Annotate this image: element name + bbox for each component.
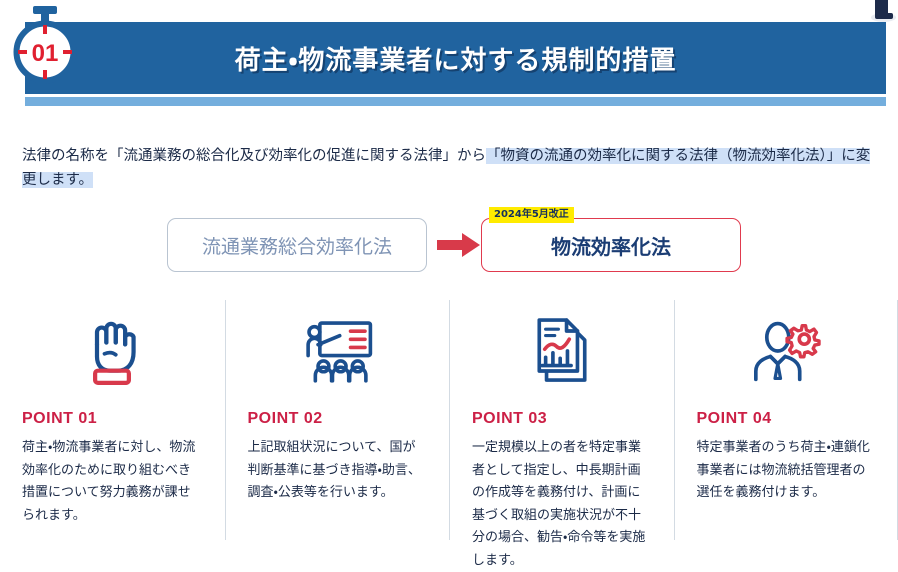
point-card-02: POINT 02 上記取組状況について、国が判断基準に基づき指導・助言、調査・公… xyxy=(225,300,450,540)
points-grid: POINT 01 荷主・物流事業者に対し、物流効率化のために取り組むべき措置につ… xyxy=(0,300,898,540)
point-body: 上記取組状況について、国が判断基準に基づき指導・助言、調査・公表等を行います。 xyxy=(248,437,428,505)
point-label: POINT 02 xyxy=(248,410,428,428)
manager-gear-icon xyxy=(697,312,876,390)
page-title: 荷主・物流事業者に対する規制的措置 xyxy=(25,40,886,77)
old-law-box: 流通業務総合効率化法 xyxy=(167,218,427,272)
stopwatch-icon: 01 xyxy=(8,4,86,88)
new-law-label: 物流効率化法 xyxy=(551,231,671,260)
intro-paragraph: 法律の名称を「流通業務の総合化及び効率化の促進に関する法律」から「物資の流通の効… xyxy=(22,144,878,192)
point-body: 荷主・物流事業者に対し、物流効率化のために取り組むべき措置について努力義務が課せ… xyxy=(22,437,203,527)
point-card-04: POINT 04 特定事業者のうち荷主・連鎖化事業者には物流統括管理者の選任を義… xyxy=(674,300,898,540)
point-label: POINT 03 xyxy=(472,410,652,428)
stopwatch-number: 01 xyxy=(32,40,59,67)
report-chart-document-icon xyxy=(472,312,652,390)
old-law-label: 流通業務総合効率化法 xyxy=(202,232,392,259)
point-label: POINT 04 xyxy=(697,410,876,428)
point-body: 一定規模以上の者を特定事業者として指定し、中長期計画の作成等を義務付け、計画に基… xyxy=(472,437,652,572)
presentation-audience-icon xyxy=(248,312,428,390)
banner-underline xyxy=(25,97,886,106)
raised-fist-icon xyxy=(22,312,203,390)
law-change-diagram: 流通業務総合効率化法 2024年5月改正 物流効率化法 xyxy=(0,200,898,290)
point-card-03: POINT 03 一定規模以上の者を特定事業者として指定し、中長期計画の作成等を… xyxy=(449,300,674,540)
point-card-01: POINT 01 荷主・物流事業者に対し、物流効率化のために取り組むべき措置につ… xyxy=(0,300,225,540)
right-arrow-icon xyxy=(437,232,481,258)
header-banner: 荷主・物流事業者に対する規制的措置 xyxy=(0,22,898,106)
corner-object-shape xyxy=(875,0,888,16)
intro-text-plain: 法律の名称を「流通業務の総合化及び効率化の促進に関する法律」から xyxy=(22,148,486,164)
revision-badge: 2024年5月改正 xyxy=(489,207,574,223)
point-label: POINT 01 xyxy=(22,410,203,428)
cut-off-corner-object xyxy=(871,0,897,24)
point-body: 特定事業者のうち荷主・連鎖化事業者には物流統括管理者の選任を義務付けます。 xyxy=(697,437,876,505)
banner-background: 荷主・物流事業者に対する規制的措置 xyxy=(25,22,886,94)
new-law-box: 物流効率化法 xyxy=(481,218,741,272)
